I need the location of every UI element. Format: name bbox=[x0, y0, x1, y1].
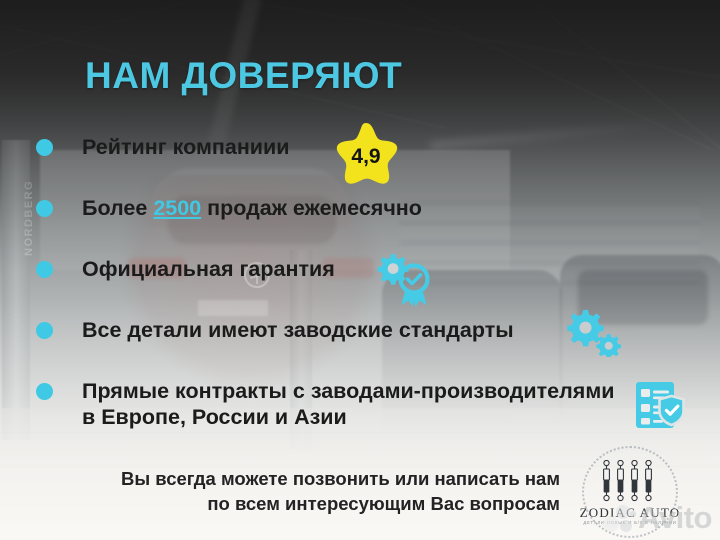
list-item-label: Все детали имеют заводские стандарты bbox=[82, 317, 514, 343]
bullet-dot-icon bbox=[36, 139, 53, 156]
footer-line-2: по всем интересующим Вас вопросам bbox=[60, 491, 560, 516]
sales-count-highlight: 2500 bbox=[153, 196, 201, 220]
list-item-label: Прямые контракты с заводами-производител… bbox=[82, 378, 614, 430]
gears-icon bbox=[566, 309, 622, 357]
list-item-label: Рейтинг компаниии bbox=[82, 134, 289, 160]
footer-text: Вы всегда можете позвонить или написать … bbox=[60, 466, 560, 516]
shock-absorbers-icon bbox=[600, 460, 662, 502]
list-item-label: Официальная гарантия bbox=[82, 256, 335, 282]
bullet-dot-icon bbox=[36, 200, 53, 217]
page-title: НАМ ДОВЕРЯЮТ bbox=[85, 55, 402, 97]
rating-value: 4,9 bbox=[331, 145, 401, 169]
gear-award-ribbon-icon bbox=[370, 253, 434, 311]
promo-banner: NORDBERG AUTOLIFT НАМ ДОВЕРЯЮТ Рейтинг к… bbox=[0, 0, 720, 540]
footer-line-1: Вы всегда можете позвонить или написать … bbox=[60, 466, 560, 491]
list-item-label-line2: в Европе, России и Азии bbox=[82, 404, 614, 430]
bullet-dot-icon bbox=[36, 261, 53, 278]
list-item: Более 2500 продаж ежемесячно bbox=[36, 195, 716, 239]
list-item-label-line1: Прямые контракты с заводами-производител… bbox=[82, 378, 614, 404]
document-shield-icon bbox=[633, 380, 685, 430]
sales-prefix: Более bbox=[82, 196, 153, 220]
bullet-dot-icon bbox=[36, 322, 53, 339]
avito-watermark: Avito bbox=[602, 500, 712, 536]
sales-suffix: продаж ежемесячно bbox=[201, 196, 422, 220]
avito-wordmark: Avito bbox=[638, 500, 712, 536]
list-item: Прямые контракты с заводами-производител… bbox=[36, 378, 716, 430]
avito-dots-icon bbox=[602, 503, 636, 533]
bullet-dot-icon bbox=[36, 383, 53, 400]
banner-content: НАМ ДОВЕРЯЮТ Рейтинг компаниии Более 250… bbox=[0, 0, 720, 540]
star-rating-badge: 4,9 bbox=[331, 121, 401, 189]
list-item-label: Более 2500 продаж ежемесячно bbox=[82, 195, 422, 221]
